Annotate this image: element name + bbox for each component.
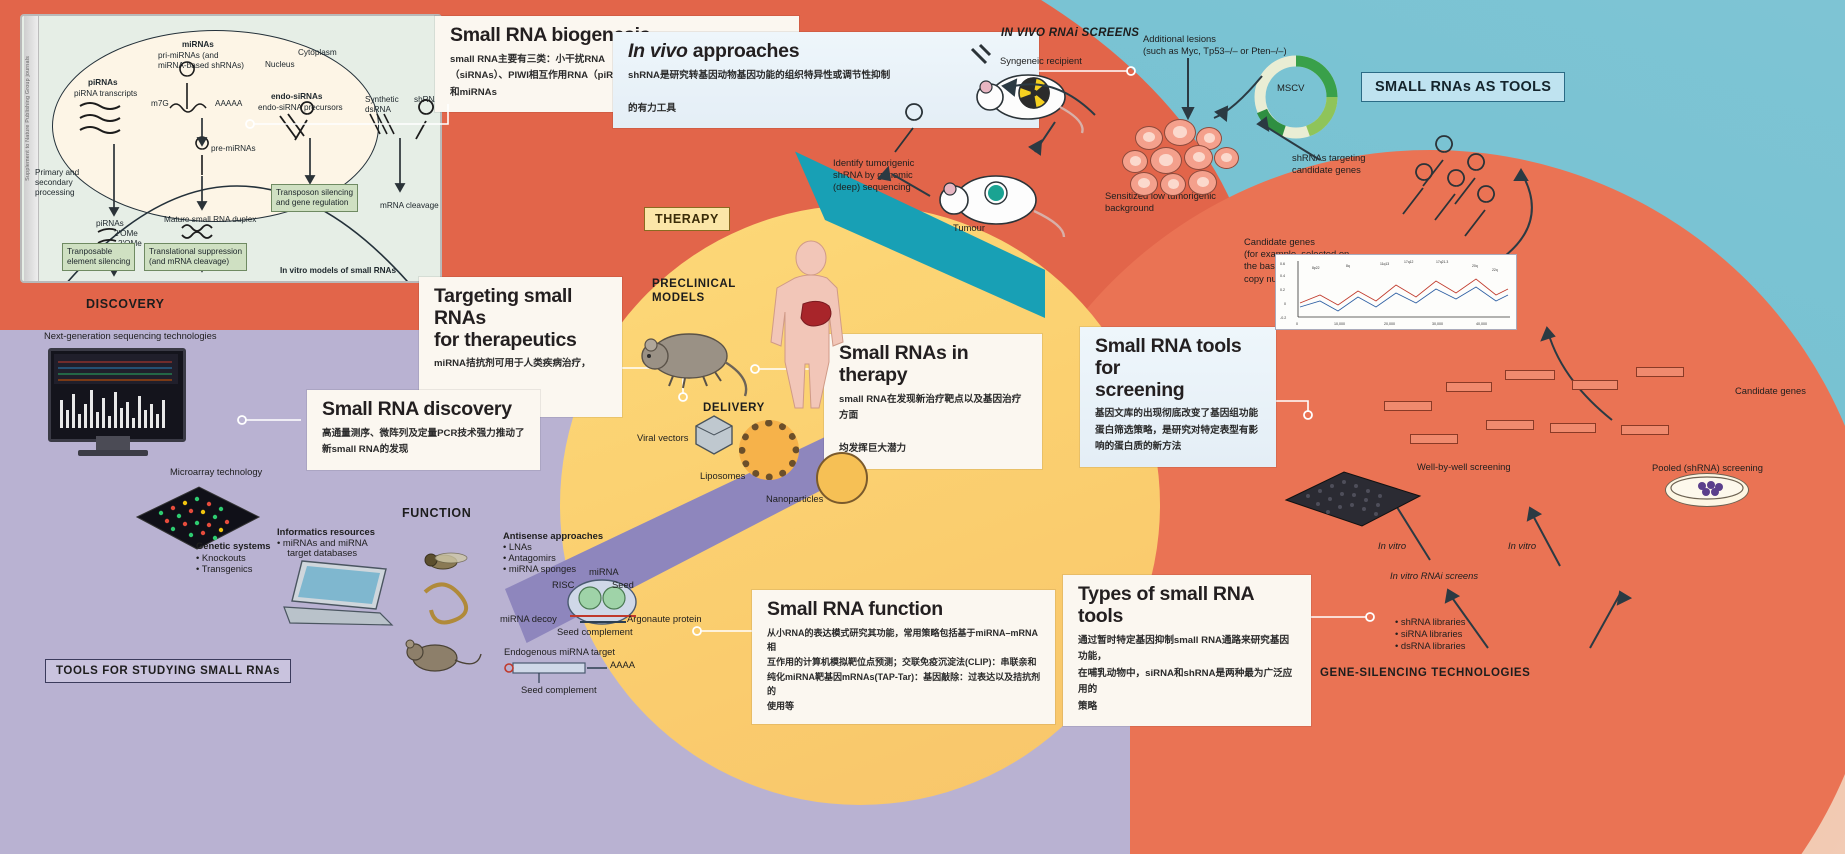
greenbox-transposon-silencing: Transposon silencing and gene regulation: [271, 184, 358, 212]
svg-text:0: 0: [1284, 302, 1286, 306]
banner-gene-silencing-technologies: GENE-SILENCING TECHNOLOGIES: [1320, 667, 1530, 679]
label-informatics-item-1: target databases: [282, 547, 357, 559]
nanoparticle-icon: [816, 452, 868, 504]
svg-text:0.6: 0.6: [1280, 262, 1285, 266]
model-organisms: [395, 540, 505, 680]
callout-title: Targeting small RNAs for therapeutics: [434, 286, 609, 351]
label-mirna: miRNA: [589, 566, 619, 578]
label-shrna-libraries: • shRNA libraries: [1395, 616, 1466, 628]
greenbox-transposable-element-silencing: Tranposable element silencing: [62, 243, 135, 271]
copy-number-chart: -0.200.2 0.40.6 010,00020,000 30,00040,0…: [1275, 254, 1517, 330]
liposome-icon: [739, 420, 799, 480]
svg-text:8q: 8q: [1346, 264, 1350, 268]
svg-text:10,000: 10,000: [1334, 322, 1345, 326]
sequencing-trace: [54, 354, 178, 434]
callout-title: Small RNA discovery: [322, 399, 527, 421]
viral-vector-icon: [692, 412, 736, 458]
svg-text:20q: 20q: [1472, 264, 1478, 268]
svg-text:30,000: 30,000: [1432, 322, 1443, 326]
svg-text:40,000: 40,000: [1476, 322, 1487, 326]
label-viral-vectors: Viral vectors: [637, 432, 688, 444]
label-well-by-well-screening: Well-by-well screening: [1417, 461, 1511, 473]
callout-body: 高通量测序、微阵列及定量PCR技术强力推动了 新small RNA的发现: [322, 426, 527, 459]
dish-colonies: [1666, 474, 1748, 506]
svg-text:17q21.3: 17q21.3: [1436, 260, 1448, 264]
label-in-vitro-2: In vitro: [1508, 540, 1536, 552]
callout-body: 基因文库的出现彻底改变了基因组功能 蛋白筛选策略，是研究对特定表型有影 响的蛋白…: [1095, 406, 1263, 456]
svg-text:11q13: 11q13: [1380, 262, 1389, 266]
monitor-base: [78, 450, 148, 456]
svg-text:0.2: 0.2: [1280, 288, 1285, 292]
copy-number-plot: -0.200.2 0.40.6 010,00020,000 30,00040,0…: [1276, 255, 1516, 329]
svg-text:0: 0: [1296, 322, 1298, 326]
callout-types-of-small-rna-tools[interactable]: Types of small RNA tools 通过暂时特定基因抑制small…: [1063, 575, 1311, 726]
banner-function: FUNCTION: [402, 506, 471, 520]
callout-body: 从小RNA的表达模式研究其功能，常用策略包括基于miRNA–mRNA相 互作用的…: [767, 626, 1042, 713]
sequencing-monitor: [48, 348, 186, 442]
laptop-informatics: [280, 555, 400, 635]
svg-text:22q: 22q: [1492, 268, 1498, 272]
svg-text:-0.2: -0.2: [1280, 316, 1286, 320]
tumour-mouse: [930, 155, 1070, 241]
label-nanoparticles: Nanoparticles: [766, 493, 823, 505]
label-seed-complement: Seed complement: [557, 626, 633, 638]
microplate-icon: [1278, 468, 1428, 528]
svg-text:17q12: 17q12: [1404, 260, 1414, 264]
label-liposomes: Liposomes: [700, 470, 745, 482]
laptop-shape: [280, 555, 400, 635]
label-microarray-technology: Microarray technology: [170, 466, 262, 478]
human-figure: [755, 238, 865, 418]
label-sirna-libraries: • siRNA libraries: [1395, 628, 1462, 640]
label-seed: Seed: [612, 579, 634, 591]
banner-therapy: THERAPY: [644, 207, 730, 231]
label-argonaute-protein: Argonaute protein: [627, 613, 702, 625]
mscv-plasmid: [1244, 45, 1354, 155]
endogenous-target-glyph: [495, 655, 625, 690]
callout-title: Types of small RNA tools: [1078, 584, 1298, 628]
label-genetic-systems: Genetic systems: [196, 540, 271, 552]
label-next-gen-sequencing: Next-generation sequencing technologies: [44, 330, 217, 342]
preclinical-mouse: [637, 320, 757, 400]
label-risc: RISC: [552, 579, 574, 591]
petri-dish-icon: [1665, 473, 1749, 507]
hairpin-icon-invivo: [880, 110, 930, 160]
callout-title: Small RNA function: [767, 599, 1042, 621]
callout-title-rest: approaches: [693, 40, 799, 62]
callout-title: Small RNAs in therapy: [839, 343, 1029, 387]
label-mirna-decoy: miRNA decoy: [500, 613, 557, 625]
poster-canvas: Supplement to Nature Publishing Group jo…: [0, 0, 1845, 854]
callout-small-rna-discovery[interactable]: Small RNA discovery 高通量测序、微阵列及定量PCR技术强力推…: [307, 390, 540, 470]
label-mscv: MSCV: [1277, 83, 1304, 95]
banner-in-vivo-rnai-screens: IN VIVO RNAi SCREENS: [1001, 27, 1139, 39]
label-identify-tumorigenic-shrna: Identify tumorigenic shRNA by genomic (d…: [833, 157, 914, 194]
svg-text:8p22: 8p22: [1312, 266, 1320, 270]
label-shrnas-targeting-candidate-genes: shRNAs targeting candidate genes: [1292, 152, 1365, 176]
label-in-vitro-1: In vitro: [1378, 540, 1406, 552]
banner-discovery: DISCOVERY: [86, 297, 165, 311]
biogenesis-inset-panel: Supplement to Nature Publishing Group jo…: [20, 14, 442, 283]
banner-small-rnas-as-tools: SMALL RNAs AS TOOLS: [1361, 72, 1565, 102]
callout-small-rna-function[interactable]: Small RNA function 从小RNA的表达模式研究其功能，常用策略包…: [752, 590, 1055, 724]
label-dsrna-libraries: • dsRNA libraries: [1395, 640, 1466, 652]
label-in-vitro-rnai-screens: In vitro RNAi screens: [1390, 570, 1478, 582]
callout-title: Small RNA tools for screening: [1095, 336, 1263, 401]
callout-title-italic: In vivo: [628, 40, 688, 62]
callout-small-rna-tools-for-screening[interactable]: Small RNA tools for screening 基因文库的出现彻底改…: [1080, 327, 1276, 467]
syngeneic-mouse: [960, 45, 1090, 131]
label-candidate-genes: Candidate genes: [1735, 385, 1806, 397]
svg-text:0.4: 0.4: [1280, 274, 1285, 278]
greenbox-translational-suppression: Translational suppression (and mRNA clea…: [144, 243, 247, 271]
banner-preclinical-models: PRECLINICAL MODELS: [652, 277, 736, 306]
shrna-hairpin-cluster: [1400, 140, 1540, 250]
banner-tools-for-studying-small-rnas: TOOLS FOR STUDYING SMALL RNAs: [45, 659, 291, 683]
label-genetic-item-1: • Transgenics: [196, 563, 252, 575]
inset-rna-glyphs: [22, 16, 440, 281]
callout-body: 通过暂时特定基因抑制small RNA通路来研究基因功能， 在哺乳动物中，siR…: [1078, 633, 1298, 716]
callout-body: small RNA在发现新治疗靶点以及基因治疗方面 均发挥巨大潜力: [839, 392, 1029, 458]
svg-text:20,000: 20,000: [1384, 322, 1395, 326]
